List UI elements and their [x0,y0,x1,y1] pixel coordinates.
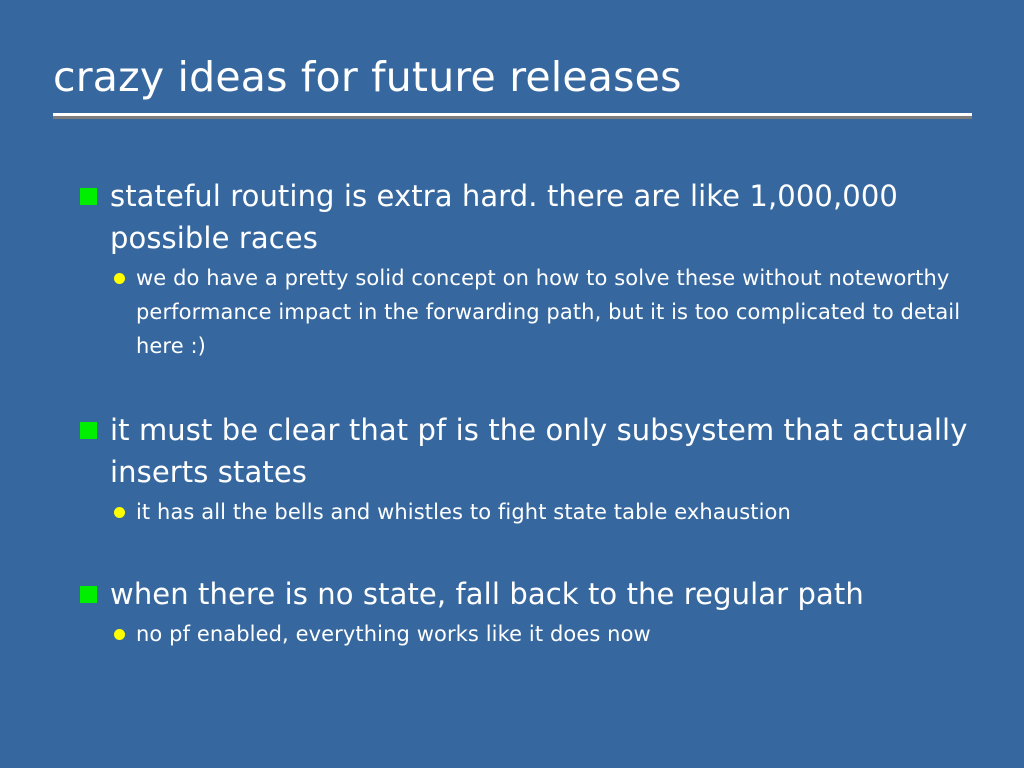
title-block: crazy ideas for future releases [53,52,973,102]
title-divider-shadow [53,116,972,119]
green-square-bullet-icon [80,422,97,439]
sub-list-item-label: it has all the bells and whistles to fig… [136,495,980,529]
list-item: stateful routing is extra hard. there ar… [80,175,980,259]
list-item: it must be clear that pf is the only sub… [80,409,980,493]
sub-list-item: no pf enabled, everything works like it … [110,617,980,651]
yellow-round-bullet-icon [114,629,125,640]
list-item-label: it must be clear that pf is the only sub… [110,409,980,493]
presentation-slide: crazy ideas for future releases stateful… [0,0,1024,768]
green-square-bullet-icon [80,188,97,205]
list-item-label: when there is no state, fall back to the… [110,573,980,615]
bullet-group: stateful routing is extra hard. there ar… [80,175,980,363]
list-item: when there is no state, fall back to the… [80,573,980,615]
green-square-bullet-icon [80,586,97,603]
yellow-round-bullet-icon [114,273,125,284]
sub-list-item-label: no pf enabled, everything works like it … [136,617,980,651]
sub-bullet-list: we do have a pretty solid concept on how… [80,261,980,363]
bullet-group: it must be clear that pf is the only sub… [80,409,980,529]
sub-bullet-list: no pf enabled, everything works like it … [80,617,980,651]
title-divider [53,113,972,119]
page-title: crazy ideas for future releases [53,52,973,102]
sub-bullet-list: it has all the bells and whistles to fig… [80,495,980,529]
sub-list-item: it has all the bells and whistles to fig… [110,495,980,529]
slide-body: stateful routing is extra hard. there ar… [80,175,980,651]
bullet-group: when there is no state, fall back to the… [80,573,980,651]
list-item-label: stateful routing is extra hard. there ar… [110,175,980,259]
sub-list-item: we do have a pretty solid concept on how… [110,261,980,363]
sub-list-item-label: we do have a pretty solid concept on how… [136,261,980,363]
yellow-round-bullet-icon [114,507,125,518]
